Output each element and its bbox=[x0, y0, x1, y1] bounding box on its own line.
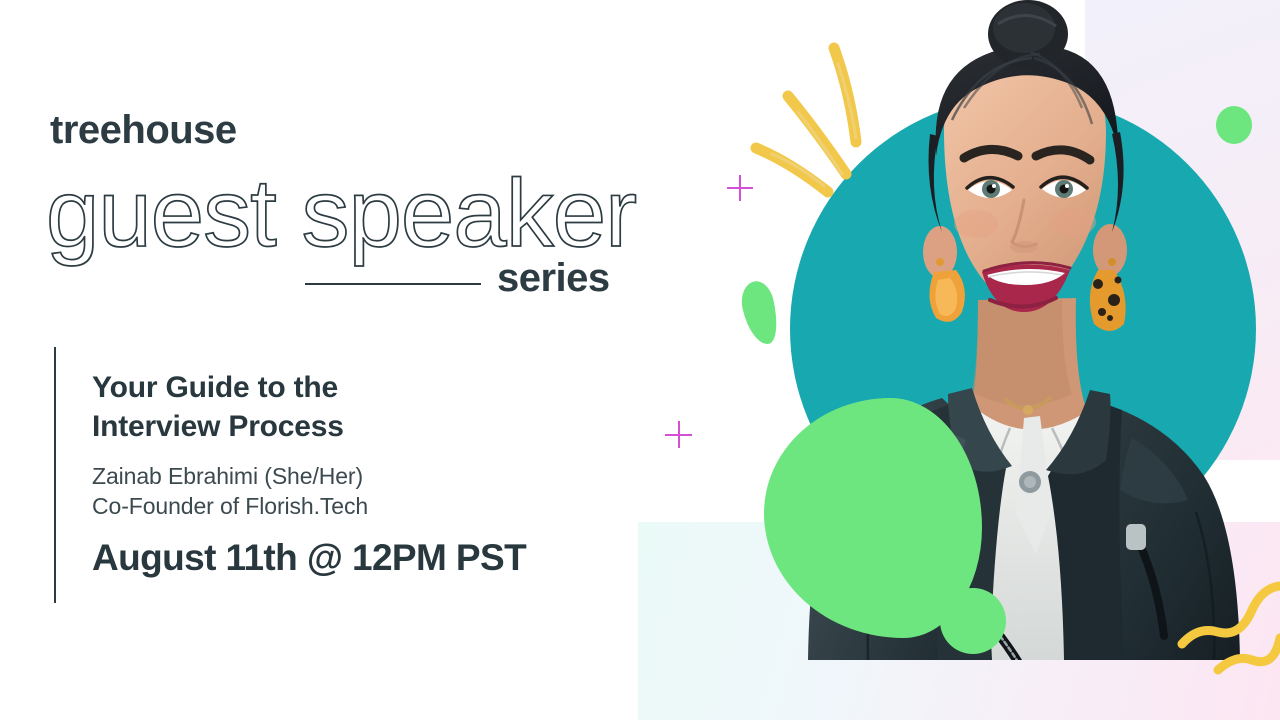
pink-plus-icon-middle bbox=[665, 421, 692, 448]
series-rule-divider bbox=[305, 283, 481, 285]
talk-title-line1: Your Guide to the bbox=[92, 368, 512, 407]
green-dot-shape-bottom bbox=[940, 588, 1006, 654]
pink-plus-icon-top bbox=[727, 175, 753, 201]
yellow-squiggle-icon bbox=[1160, 578, 1280, 693]
talk-title: Your Guide to the Interview Process bbox=[92, 368, 512, 446]
left-accent-divider bbox=[54, 347, 56, 603]
brand-logo-text: treehouse bbox=[50, 108, 237, 153]
event-datetime: August 11th @ 12PM PST bbox=[92, 537, 526, 579]
promo-banner: treehouse guest speaker series Your Guid… bbox=[0, 0, 1280, 720]
green-dot-shape-top bbox=[1216, 106, 1252, 144]
green-blob-shape-small bbox=[737, 278, 783, 348]
headline-outline-text: guest speaker bbox=[42, 160, 662, 270]
svg-text:guest speaker: guest speaker bbox=[46, 160, 636, 267]
series-row: series bbox=[305, 262, 635, 312]
speaker-role: Co-Founder of Florish.Tech bbox=[92, 491, 368, 521]
yellow-rays-icon bbox=[742, 34, 902, 199]
series-label: series bbox=[497, 256, 610, 301]
speaker-name: Zainab Ebrahimi (She/Her) bbox=[92, 461, 363, 491]
talk-title-line2: Interview Process bbox=[92, 407, 512, 446]
